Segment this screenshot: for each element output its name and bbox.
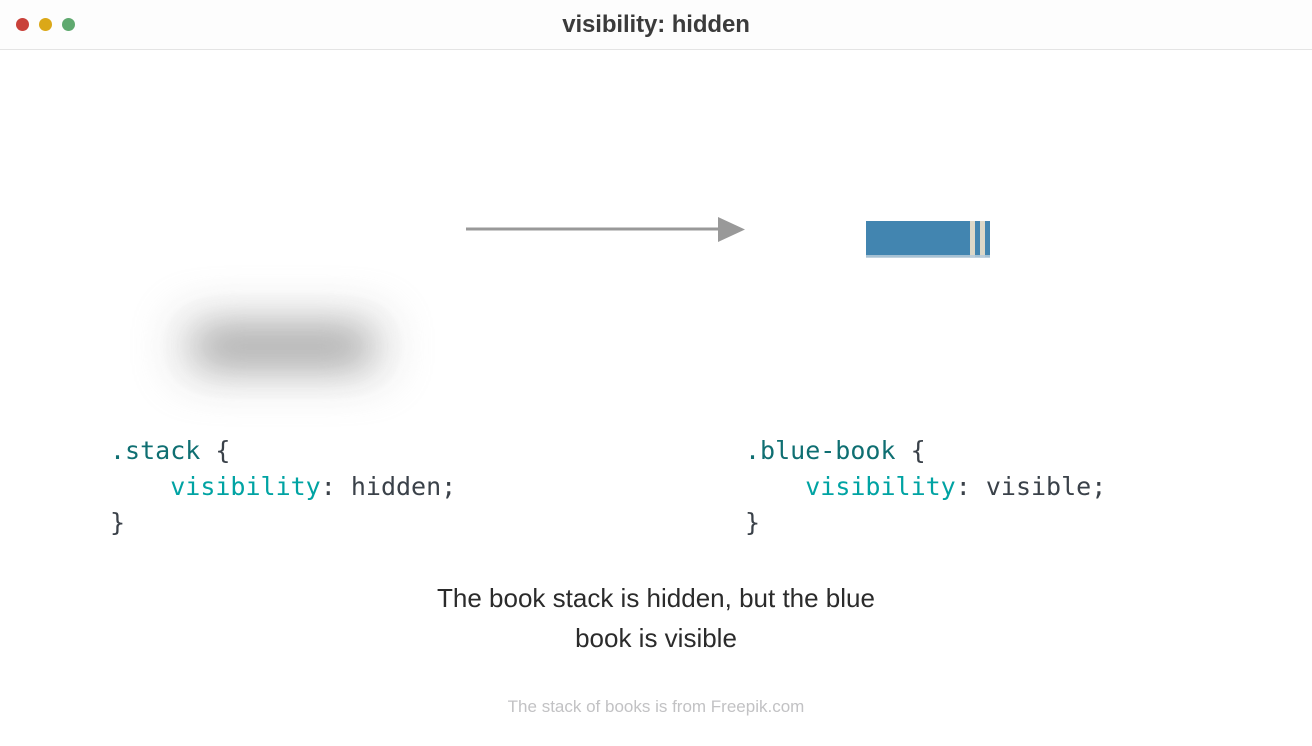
code-open-brace: { [215,436,230,465]
caption-line-2: book is visible [0,618,1312,658]
window-title: visibility: hidden [0,0,1312,50]
code-selector: .stack [110,436,200,465]
code-indent [110,472,170,501]
code-close-brace: } [745,508,760,537]
book-stack-illustration [155,283,410,413]
code-snippet-stack: .stack { visibility: hidden; } [110,433,456,541]
blue-book-page-line [970,221,975,257]
blue-book-page-line [980,221,985,257]
image-credit: The stack of books is from Freepik.com [0,697,1312,717]
caption-text: The book stack is hidden, but the blue b… [0,578,1312,658]
arrow-right-icon [466,211,746,251]
code-snippet-blue-book: .blue-book { visibility: visible; } [745,433,1106,541]
code-open-brace: { [911,436,926,465]
slide-stage: .stack { visibility: hidden; } .blue-boo… [0,51,1312,746]
code-colon: : [956,472,986,501]
code-property: visibility [805,472,956,501]
code-colon: : [321,472,351,501]
code-space [896,436,911,465]
code-selector: .blue-book [745,436,896,465]
blue-book-shadow [866,255,990,258]
book-stack-blur-core [203,335,363,359]
caption-line-1: The book stack is hidden, but the blue [0,578,1312,618]
code-indent [745,472,805,501]
code-close-brace: } [110,508,125,537]
code-space [200,436,215,465]
code-property: visibility [170,472,321,501]
code-value: visible; [986,472,1106,501]
blue-book-illustration [866,221,990,257]
window-titlebar: visibility: hidden [0,0,1312,50]
code-value: hidden; [351,472,456,501]
